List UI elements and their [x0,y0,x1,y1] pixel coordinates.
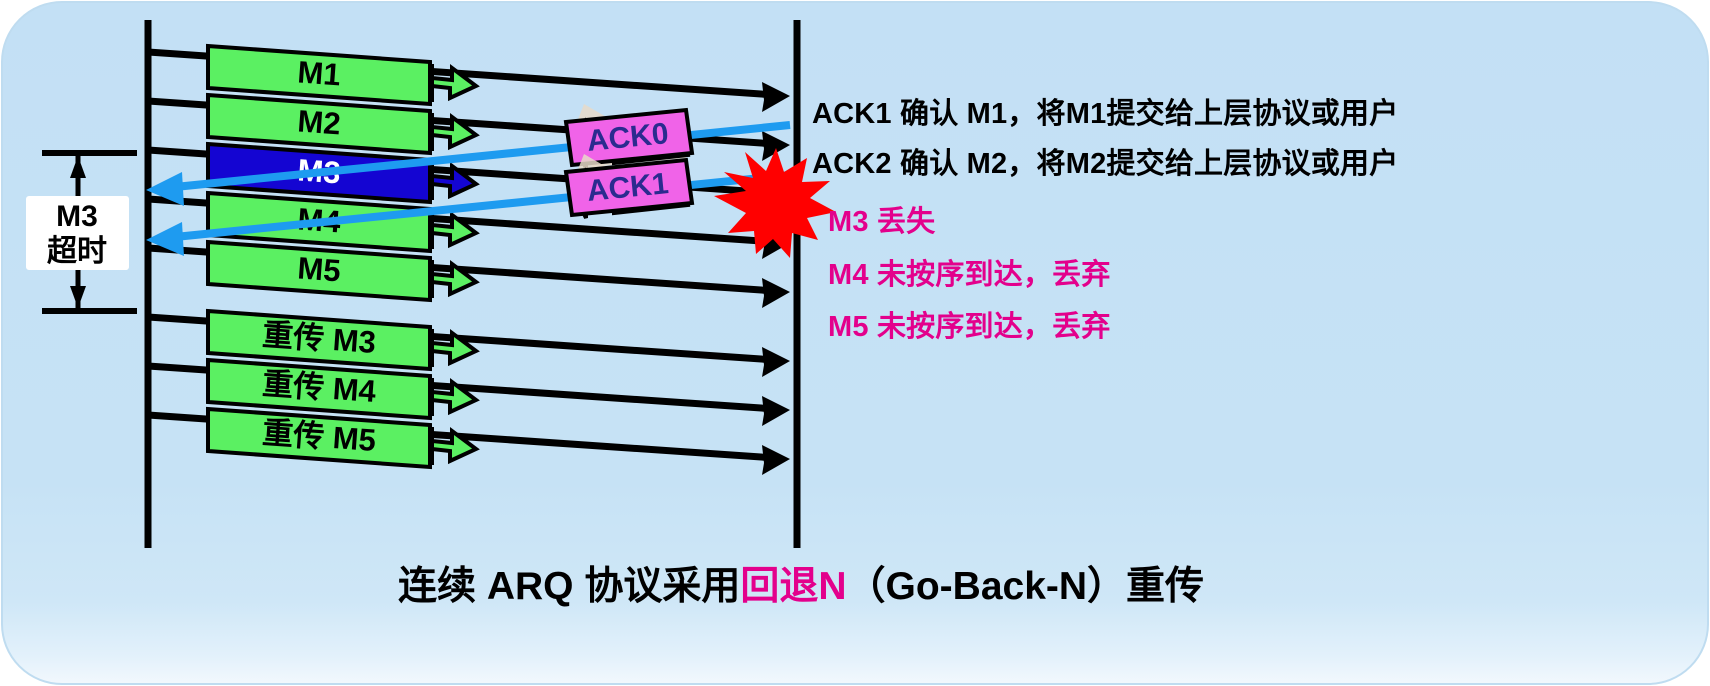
timeout-label-line2: 超时 [47,235,107,268]
receiver-note-4: M5 未按序到达，丢弃 [828,303,1111,345]
caption-highlight: 回退N [740,565,846,608]
svg-text:M5: M5 [296,251,341,289]
svg-text:M2: M2 [296,104,341,142]
caption-part2: （Go-Back-N）重传 [847,565,1205,608]
svg-text:M1: M1 [296,55,341,93]
ack-frames: ACK0 ACK1 [566,104,692,218]
goback-n-diagram: M1 M2 M3 M4 [0,0,1710,686]
receiver-note-0: ACK1 确认 M1，将M1提交给上层协议或用户 [812,90,1398,132]
receiver-note-2: M3 丢失 [828,198,935,240]
receiver-note-1: ACK2 确认 M2，将M2提交给上层协议或用户 [812,140,1398,182]
caption-part1: 连续 ARQ 协议采用 [398,565,740,608]
receiver-note-3: M4 未按序到达，丢弃 [828,251,1111,293]
caption: 连续 ARQ 协议采用回退N（Go-Back-N）重传 [398,555,1204,611]
timeout-label-line1: M3 [56,200,98,233]
